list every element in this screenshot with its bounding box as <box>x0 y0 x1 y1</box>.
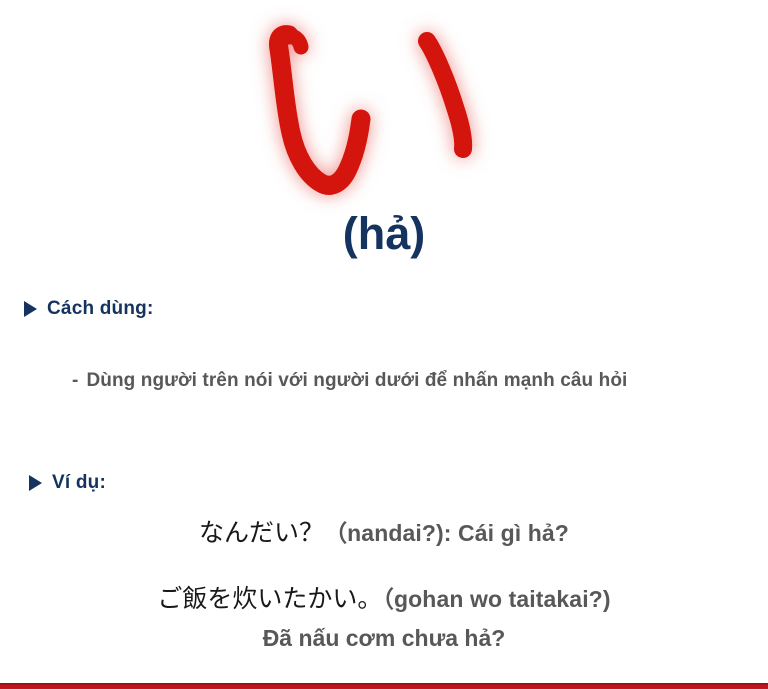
triangle-right-icon <box>24 301 37 317</box>
hiragana-i-glyph <box>259 23 509 203</box>
example-romaji-gloss: （gohan wo taitakai?) <box>382 586 610 612</box>
example-row: なんだい？（nandai?): Cái gì hả? <box>0 516 768 554</box>
section-heading-example: Ví dụ: <box>29 472 106 494</box>
example-translation: Đã nấu cơm chưa hả? <box>0 620 768 656</box>
section-heading-usage: Cách dùng: <box>24 298 154 320</box>
section-heading-usage-label: Cách dùng: <box>47 298 154 320</box>
example-romaji-gloss: （nandai?): Cái gì hả? <box>324 520 569 546</box>
examples-list: なんだい？（nandai?): Cái gì hả? ご飯を炊いたかい。（goh… <box>0 516 768 656</box>
triangle-right-icon <box>29 475 42 491</box>
headword-reading: (hả) <box>0 206 768 262</box>
example-row: ご飯を炊いたかい。（gohan wo taitakai?) <box>0 582 768 620</box>
headword-kana <box>0 18 768 208</box>
slide-root: (hả) Cách dùng: -Dùng người trên nói với… <box>0 0 768 689</box>
section-heading-example-label: Ví dụ: <box>52 472 106 494</box>
usage-item: -Dùng người trên nói với người dưới để n… <box>72 370 627 392</box>
example-japanese: なんだい？ <box>199 519 324 547</box>
usage-item-text: Dùng người trên nói với người dưới để nh… <box>86 370 627 391</box>
bottom-accent-bar <box>0 683 768 689</box>
usage-item-dash: - <box>72 370 78 391</box>
example-japanese: ご飯を炊いたかい。 <box>157 585 382 613</box>
